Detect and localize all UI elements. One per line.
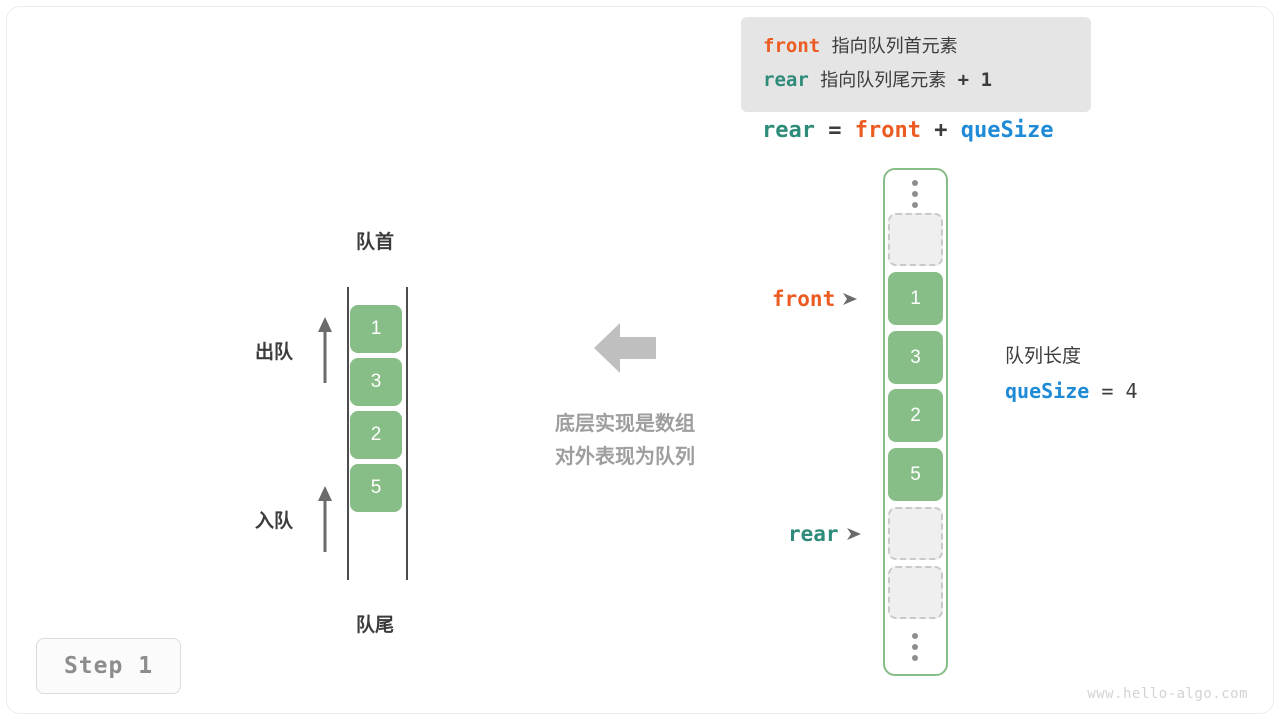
queue-cell-0: 1 bbox=[350, 305, 402, 353]
quesize-value: 4 bbox=[1125, 379, 1137, 403]
array-cell-0 bbox=[888, 213, 943, 266]
queue-size-note: 队列长度 queSize = 4 bbox=[1005, 341, 1137, 409]
pointer-legend-box: front 指向队列首元素 rear 指向队列尾元素 + 1 bbox=[741, 17, 1091, 112]
formula-rhs-front: front bbox=[855, 118, 921, 143]
center-caption-line-2: 对外表现为队列 bbox=[510, 441, 740, 474]
center-caption-line-1: 底层实现是数组 bbox=[510, 408, 740, 441]
formula-equals: = bbox=[828, 118, 841, 143]
rear-formula: rear = front + queSize bbox=[762, 118, 1053, 143]
array-cell-5 bbox=[888, 507, 943, 560]
array-bottom-ellipsis-icon bbox=[908, 633, 922, 661]
diagram-canvas: front 指向队列首元素 rear 指向队列尾元素 + 1 rear = fr… bbox=[0, 0, 1280, 720]
array-top-ellipsis-icon bbox=[908, 180, 922, 208]
array-cell-6 bbox=[888, 566, 943, 619]
left-arrow-icon bbox=[592, 318, 658, 383]
legend-rear-keyword: rear bbox=[763, 69, 809, 91]
legend-front-keyword: front bbox=[763, 35, 820, 57]
legend-rear-text: 指向队列尾元素 bbox=[820, 70, 946, 90]
dequeue-arrow-icon bbox=[316, 315, 334, 388]
rear-pointer: rear bbox=[788, 522, 862, 546]
legend-front-text: 指向队列首元素 bbox=[832, 36, 958, 56]
queue-cell-3: 5 bbox=[350, 464, 402, 512]
array-cell-4: 5 bbox=[888, 448, 943, 501]
formula-lhs: rear bbox=[762, 118, 815, 143]
queue-rail-right bbox=[406, 287, 408, 580]
center-caption: 底层实现是数组 对外表现为队列 bbox=[510, 408, 740, 474]
enqueue-arrow-icon bbox=[316, 484, 334, 557]
enqueue-label: 入队 bbox=[255, 506, 293, 533]
legend-rear-plus: + bbox=[958, 69, 969, 91]
rear-pointer-label: rear bbox=[788, 522, 839, 546]
triangle-right-icon bbox=[846, 522, 862, 546]
array-cell-1: 1 bbox=[888, 272, 943, 325]
queue-head-label: 队首 bbox=[345, 227, 405, 254]
queue-tail-label: 队尾 bbox=[345, 610, 405, 637]
quesize-equals: = bbox=[1101, 379, 1113, 403]
front-pointer: front bbox=[772, 287, 858, 311]
dequeue-label: 出队 bbox=[255, 337, 293, 364]
queue-size-expression: queSize = 4 bbox=[1005, 373, 1137, 409]
legend-line-rear: rear 指向队列尾元素 + 1 bbox=[763, 63, 1091, 97]
step-badge: Step 1 bbox=[36, 638, 181, 694]
formula-rhs-quesize: queSize bbox=[961, 118, 1054, 143]
array-cell-3: 2 bbox=[888, 389, 943, 442]
queue-size-title: 队列长度 bbox=[1005, 341, 1137, 373]
queue-cell-1: 3 bbox=[350, 358, 402, 406]
array-cell-2: 3 bbox=[888, 331, 943, 384]
triangle-right-icon bbox=[842, 287, 858, 311]
queue-rail-left bbox=[347, 287, 349, 580]
formula-plus: + bbox=[934, 118, 947, 143]
queue-cell-2: 2 bbox=[350, 411, 402, 459]
watermark: www.hello-algo.com bbox=[1087, 686, 1248, 702]
legend-rear-one: 1 bbox=[981, 69, 992, 91]
front-pointer-label: front bbox=[772, 287, 835, 311]
quesize-variable: queSize bbox=[1005, 379, 1089, 403]
legend-line-front: front 指向队列首元素 bbox=[763, 29, 1091, 63]
